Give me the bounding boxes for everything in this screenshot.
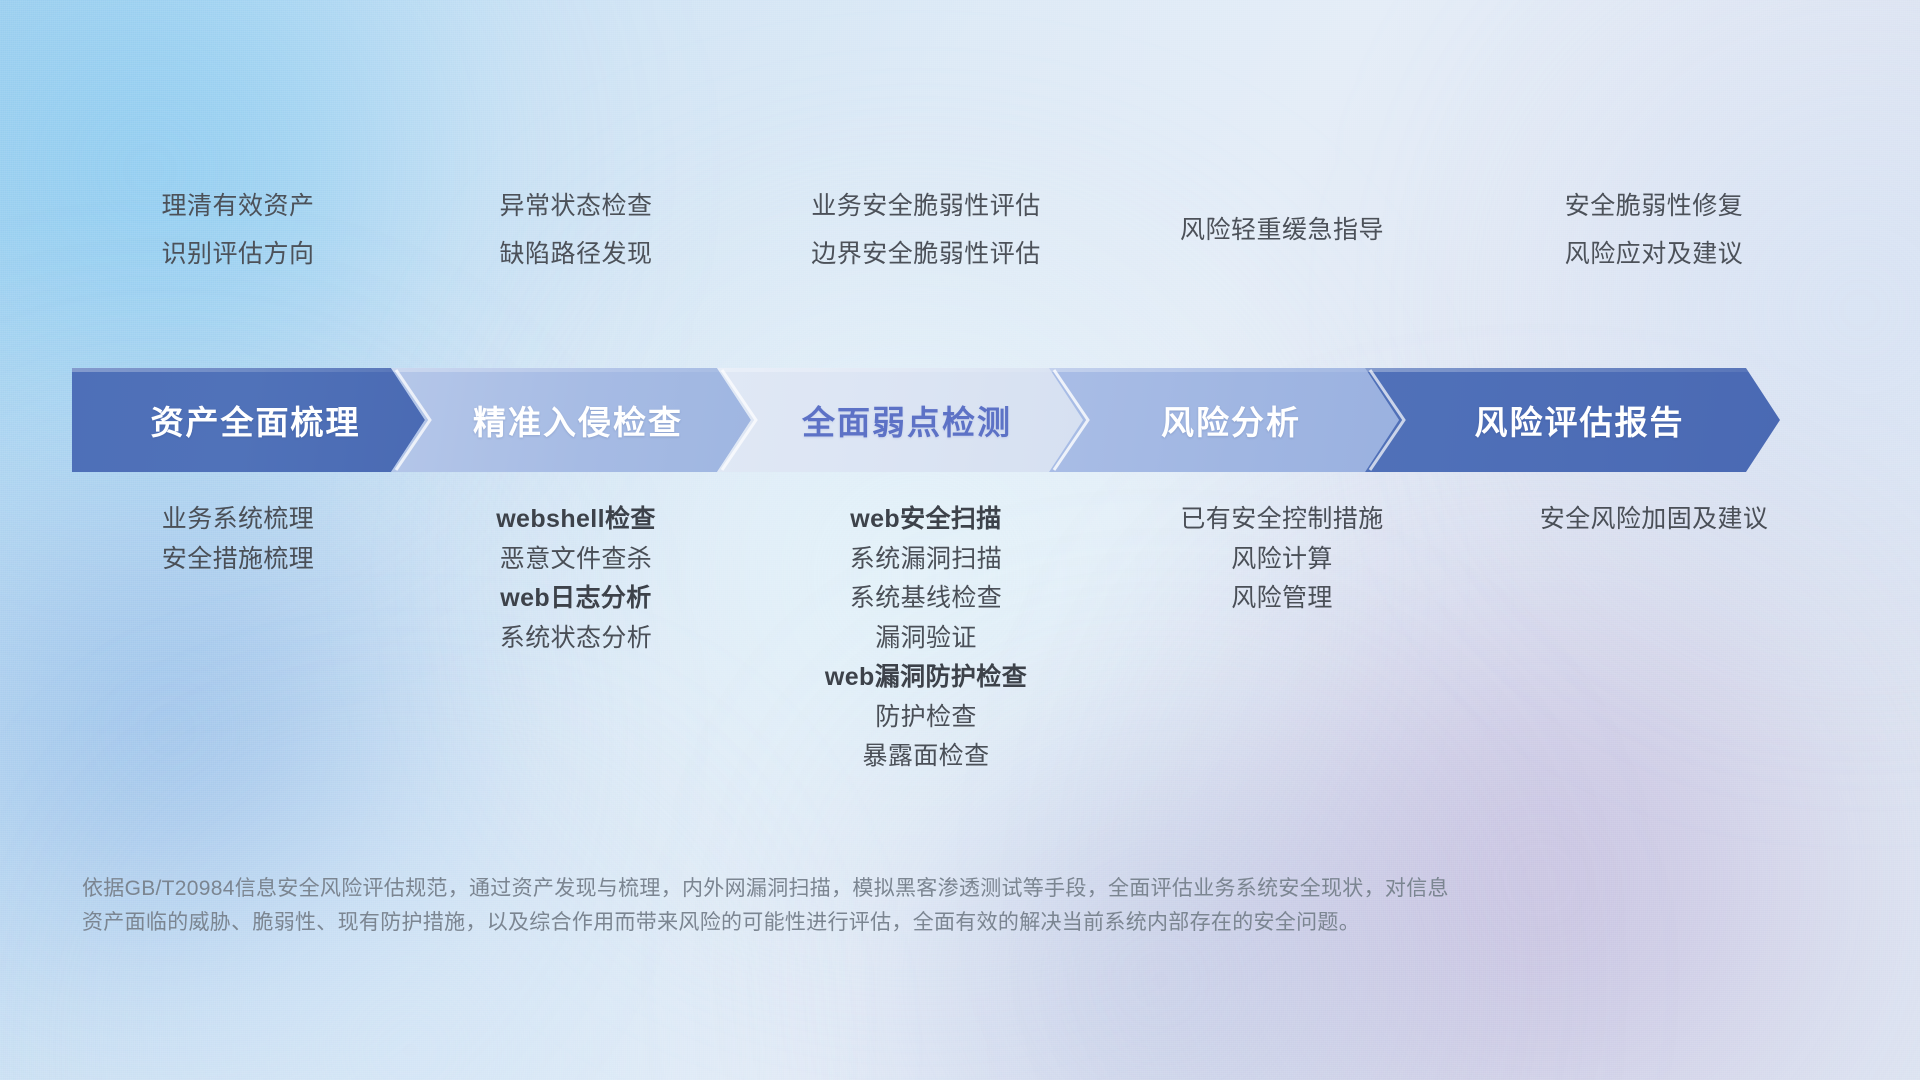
task-item: web安全扫描 [748, 500, 1104, 540]
task-item: web日志分析 [404, 579, 748, 619]
top-line: 理清有效资产 [72, 182, 404, 230]
process-step-asset-inventory[interactable]: 资产全面梳理 [72, 368, 425, 472]
top-column-3: 业务安全脆弱性评估 边界安全脆弱性评估 [748, 182, 1104, 278]
top-column-2: 异常状态检查 缺陷路径发现 [404, 182, 748, 278]
bottom-column-1: 业务系统梳理 安全措施梳理 [72, 500, 404, 579]
task-item: web漏洞防护检查 [748, 658, 1104, 698]
bottom-column-4: 已有安全控制措施 风险计算 风险管理 [1104, 500, 1460, 619]
slide-content: 理清有效资产 识别评估方向 异常状态检查 缺陷路径发现 业务安全脆弱性评估 边界… [0, 0, 1920, 1080]
process-step-label: 风险评估报告 [1461, 396, 1685, 444]
task-item: 安全措施梳理 [72, 540, 404, 580]
task-item: 恶意文件查杀 [404, 540, 748, 580]
top-line: 风险应对及建议 [1460, 230, 1848, 278]
task-item: webshell检查 [404, 500, 748, 540]
process-step-label: 精准入侵检查 [459, 396, 683, 444]
process-step-risk-report[interactable]: 风险评估报告 [1365, 368, 1780, 472]
process-step-risk-analysis[interactable]: 风险分析 [1049, 368, 1399, 472]
top-column-4: 风险轻重缓急指导 [1104, 182, 1460, 254]
task-item: 暴露面检查 [748, 737, 1104, 777]
top-line: 风险轻重缓急指导 [1104, 206, 1460, 254]
bottom-column-5: 安全风险加固及建议 [1460, 500, 1848, 540]
footnote-line: 资产面临的威胁、脆弱性、现有防护措施，以及综合作用而带来风险的可能性进行评估，全… [82, 906, 1722, 940]
process-step-label: 资产全面梳理 [137, 396, 361, 444]
task-item: 防护检查 [748, 698, 1104, 738]
bottom-task-row: 业务系统梳理 安全措施梳理 webshell检查 恶意文件查杀 web日志分析 … [72, 500, 1848, 777]
process-step-label: 风险分析 [1147, 396, 1301, 444]
footnote-line: 依据GB/T20984信息安全风险评估规范，通过资产发现与梳理，内外网漏洞扫描，… [82, 872, 1722, 906]
top-column-1: 理清有效资产 识别评估方向 [72, 182, 404, 278]
top-descriptor-row: 理清有效资产 识别评估方向 异常状态检查 缺陷路径发现 业务安全脆弱性评估 边界… [72, 182, 1848, 278]
top-line: 安全脆弱性修复 [1460, 182, 1848, 230]
top-line: 边界安全脆弱性评估 [748, 230, 1104, 278]
process-step-banner: 资产全面梳理 精准入侵检查 全面弱点检测 风险分析 风险评估报告 [72, 368, 1848, 472]
top-line: 业务安全脆弱性评估 [748, 182, 1104, 230]
footnote-paragraph: 依据GB/T20984信息安全风险评估规范，通过资产发现与梳理，内外网漏洞扫描，… [82, 872, 1722, 940]
top-line: 异常状态检查 [404, 182, 748, 230]
task-item: 已有安全控制措施 [1104, 500, 1460, 540]
task-item: 漏洞验证 [748, 619, 1104, 659]
task-item: 风险管理 [1104, 579, 1460, 619]
task-item: 风险计算 [1104, 540, 1460, 580]
bottom-column-2: webshell检查 恶意文件查杀 web日志分析 系统状态分析 [404, 500, 748, 658]
task-item: 系统状态分析 [404, 619, 748, 659]
top-line: 识别评估方向 [72, 230, 404, 278]
process-step-intrusion-check[interactable]: 精准入侵检查 [391, 368, 751, 472]
process-step-weakness-detection[interactable]: 全面弱点检测 [717, 368, 1083, 472]
task-item: 系统漏洞扫描 [748, 540, 1104, 580]
task-item: 系统基线检查 [748, 579, 1104, 619]
top-column-5: 安全脆弱性修复 风险应对及建议 [1460, 182, 1848, 278]
process-step-label: 全面弱点检测 [788, 396, 1012, 444]
bottom-column-3: web安全扫描 系统漏洞扫描 系统基线检查 漏洞验证 web漏洞防护检查 防护检… [748, 500, 1104, 777]
task-item: 安全风险加固及建议 [1460, 500, 1848, 540]
task-item: 业务系统梳理 [72, 500, 404, 540]
top-line: 缺陷路径发现 [404, 230, 748, 278]
